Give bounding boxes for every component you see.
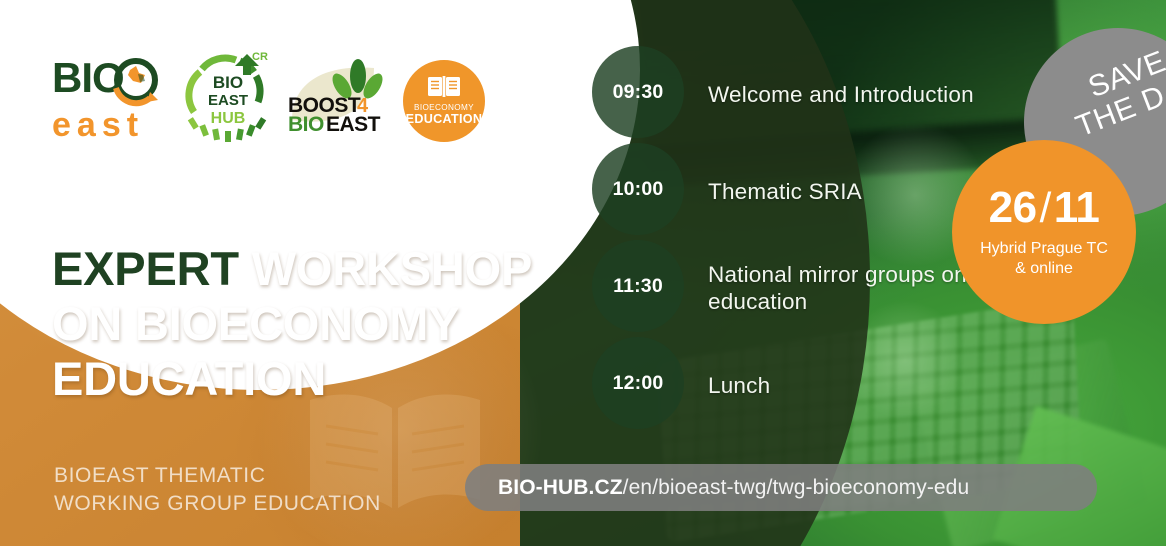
date-day: 26 — [989, 186, 1037, 230]
date-month: 11 — [1054, 186, 1100, 230]
url-path: /en/bioeast-twg/twg-bioeconomy-edu — [623, 476, 970, 499]
svg-text:BIO: BIO — [52, 54, 124, 101]
agenda-item: 09:30 Welcome and Introduction — [592, 46, 1062, 143]
page-title: EXPERT WORKSHOP ON BIOECONOMY EDUCATION — [52, 242, 572, 407]
agenda-time-badge: 11:30 — [592, 240, 684, 332]
url-domain: BIO-HUB.CZ — [498, 476, 623, 499]
svg-text:BIO: BIO — [288, 113, 324, 136]
venue-line1: Hybrid Prague TC — [980, 239, 1108, 259]
agenda-time-badge: 12:00 — [592, 337, 684, 429]
url-text: BIO-HUB.CZ/en/bioeast-twg/twg-bioeconomy… — [498, 476, 969, 500]
svg-text:BIO: BIO — [213, 73, 243, 92]
agenda-time-badge: 09:30 — [592, 46, 684, 138]
boost4bioeast-logo: BOOST 4 BIO EAST — [278, 54, 396, 138]
bioeconomy-education-badge: BIOECONOMY EDUCATION — [399, 56, 489, 146]
agenda-item: 12:00 Lunch — [592, 337, 1062, 434]
agenda-time-badge: 10:00 — [592, 143, 684, 235]
headline-accent: EXPERT — [52, 242, 239, 295]
bioeast-hub-cr-logo: CR BIO EAST HUB — [180, 46, 276, 146]
date-badge: 26 / 11 Hybrid Prague TC & online — [952, 140, 1136, 324]
agenda-time: 12:00 — [613, 372, 664, 395]
promo-banner: BIO east CR — [0, 0, 1166, 546]
date-line: 26 / 11 — [989, 186, 1100, 230]
headline-line3: EDUCATION — [52, 352, 572, 407]
url-bar[interactable]: BIO-HUB.CZ/en/bioeast-twg/twg-bioeconomy… — [465, 464, 1097, 511]
agenda-title: Lunch — [708, 372, 1048, 400]
logo-row: BIO east CR — [0, 0, 520, 160]
subtitle: BIOEAST THEMATIC WORKING GROUP EDUCATION — [54, 462, 484, 517]
agenda-time: 10:00 — [613, 178, 664, 201]
svg-text:HUB: HUB — [211, 110, 246, 127]
svg-text:east: east — [52, 106, 144, 142]
svg-text:EAST: EAST — [208, 92, 248, 109]
agenda-time: 11:30 — [613, 275, 663, 298]
badge-top-label: BIOECONOMY — [414, 104, 474, 112]
headline-rest: WORKSHOP — [239, 242, 532, 295]
headline-line2: ON BIOECONOMY — [52, 297, 572, 352]
svg-text:CR: CR — [252, 51, 268, 63]
agenda-title: Welcome and Introduction — [708, 81, 1048, 109]
date-separator: / — [1040, 187, 1051, 229]
venue-line2: & online — [1015, 259, 1073, 279]
agenda-time: 09:30 — [613, 81, 664, 104]
save-the-day-text: SAVE THE DAY — [1052, 33, 1166, 146]
subtitle-line2: WORKING GROUP EDUCATION — [54, 490, 484, 518]
open-book-icon — [427, 75, 461, 99]
subtitle-line1: BIOEAST THEMATIC — [54, 462, 484, 490]
svg-text:EAST: EAST — [326, 113, 381, 136]
bioeast-logo: BIO east — [52, 52, 170, 142]
badge-bottom-label: EDUCATION — [406, 112, 483, 128]
